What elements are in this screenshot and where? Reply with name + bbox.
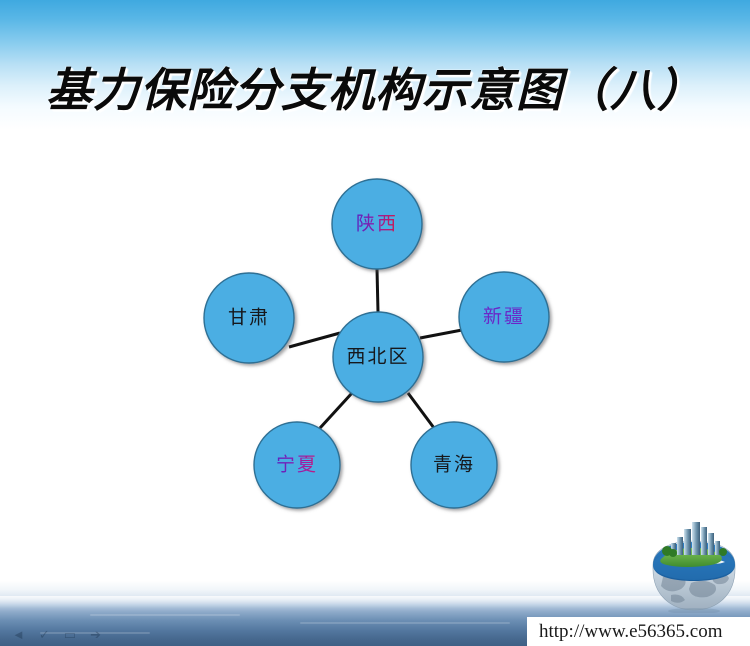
connector-center-ningxia (320, 393, 352, 428)
node-ningxia[interactable]: 宁夏 (254, 422, 340, 508)
city-buildings (671, 522, 720, 555)
connector-center-gansu (289, 333, 340, 347)
center-node[interactable]: 西北区 (333, 312, 423, 402)
org-chart-diagram: 陕西 甘肃 新疆 西北区 宁夏 (0, 0, 750, 646)
website-url-text: http://www.e56365.com (527, 621, 722, 643)
slide-canvas: ◄ ✓ ▭ ➔ 基力保险分支机构示意图（八） (0, 0, 750, 646)
node-shaanxi[interactable]: 陕西 (332, 179, 422, 269)
node-qinghai[interactable]: 青海 (411, 422, 497, 508)
node-gansu-label: 甘肃 (228, 306, 270, 328)
globe-reflection (668, 608, 720, 613)
node-shaanxi-label: 陕西 (356, 212, 398, 234)
globe-city-logo (645, 519, 743, 613)
node-xinjiang-label: 新疆 (483, 305, 525, 327)
connector-center-shaanxi (377, 269, 378, 312)
node-gansu[interactable]: 甘肃 (204, 273, 294, 363)
node-xinjiang[interactable]: 新疆 (459, 272, 549, 362)
node-qinghai-label: 青海 (433, 453, 475, 475)
website-url-bar[interactable]: http://www.e56365.com (527, 617, 750, 646)
node-ningxia-label: 宁夏 (276, 453, 318, 475)
center-node-label: 西北区 (346, 345, 409, 367)
connector-center-xinjiang (420, 330, 462, 338)
connector-center-qinghai (408, 393, 434, 428)
